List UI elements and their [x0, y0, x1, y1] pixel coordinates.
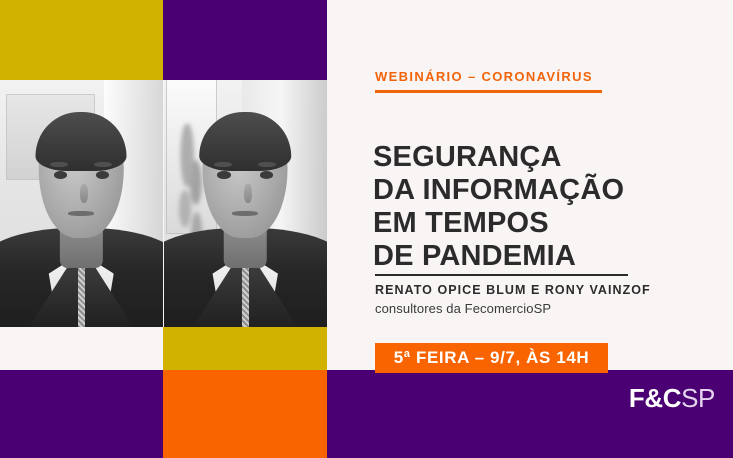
color-block-orange-bottom-right — [163, 370, 327, 458]
portrait-rony-vainzof — [164, 80, 328, 327]
mouth — [232, 211, 258, 216]
portrait-renato-opice-blum — [0, 80, 163, 327]
eye-left — [217, 171, 230, 178]
eyebrow-divider — [375, 90, 602, 93]
eye-left — [54, 171, 67, 178]
page-title: SEGURANÇA DA INFORMAÇÃO EM TEMPOS DE PAN… — [373, 141, 624, 273]
fecomercio-sp-logo: F&CSP — [629, 383, 715, 414]
color-block-purple-bottom-left — [0, 370, 163, 458]
nose — [80, 184, 88, 204]
speaker-names: RENATO OPICE BLUM E RONY VAINZOF — [375, 283, 651, 297]
left-visual-column — [0, 0, 327, 458]
date-badge: 5ª FEIRA – 9/7, ÀS 14H — [375, 343, 608, 373]
color-block-gold-top-left — [0, 0, 163, 80]
nose — [244, 184, 252, 204]
color-block-white-bottom-left — [0, 327, 163, 370]
eyebrow-label: WEBINÁRIO – CORONAVÍRUS — [375, 69, 593, 84]
mouth — [68, 211, 94, 216]
speaker-divider — [375, 274, 628, 276]
color-block-gold-bottom-right — [163, 327, 327, 370]
logo-mark-bold: F&C — [629, 383, 681, 413]
date-badge-label: 5ª FEIRA – 9/7, ÀS 14H — [394, 348, 590, 368]
webinar-promo-banner: WEBINÁRIO – CORONAVÍRUS SEGURANÇA DA INF… — [0, 0, 733, 458]
speaker-role: consultores da FecomercioSP — [375, 301, 551, 316]
eye-right — [260, 171, 273, 178]
eye-right — [96, 171, 109, 178]
content-panel: WEBINÁRIO – CORONAVÍRUS SEGURANÇA DA INF… — [327, 0, 733, 458]
speaker-photos — [0, 80, 327, 327]
color-block-purple-top-right — [163, 0, 327, 80]
logo-mark-light: SP — [681, 383, 715, 413]
